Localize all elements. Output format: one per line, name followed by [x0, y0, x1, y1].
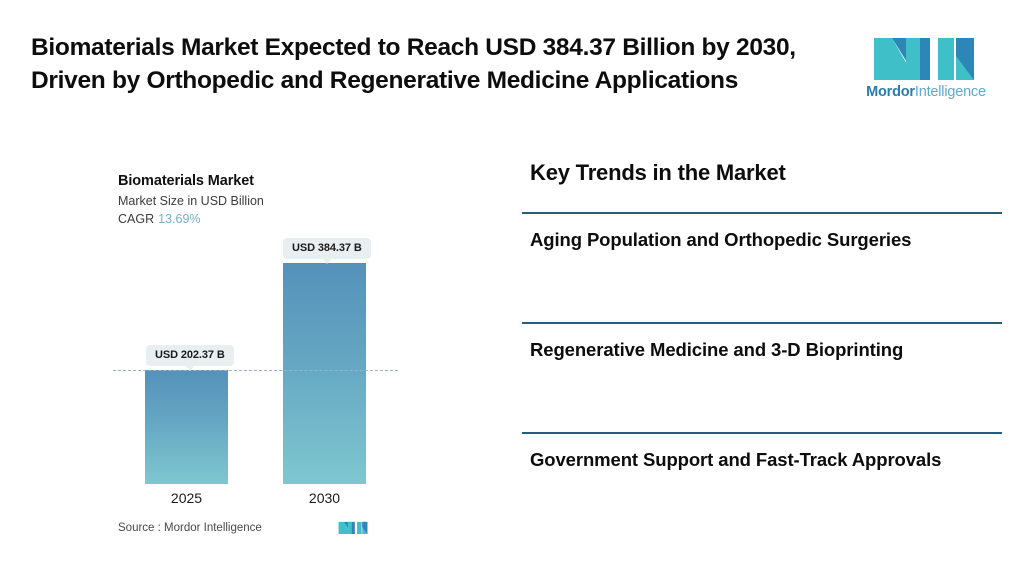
brand-word-bold: Mordor [866, 84, 915, 100]
trend-item: Aging Population and Orthopedic Surgerie… [530, 228, 996, 252]
brand-logo: MordorIntelligence [866, 28, 986, 108]
trend-divider [522, 212, 1002, 214]
chart-source-text: Source : Mordor Intelligence [118, 522, 262, 534]
trend-item: Regenerative Medicine and 3-D Bioprintin… [530, 338, 996, 362]
trend-item: Government Support and Fast-Track Approv… [530, 448, 996, 472]
x-axis-label-2030: 2030 [283, 490, 366, 506]
key-trends-heading: Key Trends in the Market [530, 160, 786, 186]
trend-divider [522, 322, 1002, 324]
brand-word-light: Intelligence [915, 84, 986, 100]
page-title-line-1: Biomaterials Market Expected to Reach US… [31, 32, 851, 65]
trend-divider [522, 432, 1002, 434]
page-title: Biomaterials Market Expected to Reach US… [31, 32, 851, 97]
bar-2025 [145, 370, 228, 484]
key-trends-panel: Key Trends in the Market Aging Populatio… [522, 150, 1002, 530]
bar-2030 [283, 263, 366, 484]
reference-line [113, 370, 398, 371]
mordor-intelligence-mark-icon [338, 518, 368, 535]
chart-plot-area: USD 202.37 B USD 384.37 B 2025 2030 [0, 140, 500, 560]
mordor-intelligence-logo-icon [872, 28, 976, 80]
data-label-2030: USD 384.37 B [283, 238, 371, 259]
chart-panel: Biomaterials Market Market Size in USD B… [0, 140, 500, 560]
data-label-2025: USD 202.37 B [146, 345, 234, 366]
x-axis-label-2025: 2025 [145, 490, 228, 506]
brand-wordmark: MordorIntelligence [866, 84, 986, 100]
page-title-line-2: Driven by Orthopedic and Regenerative Me… [31, 65, 851, 98]
